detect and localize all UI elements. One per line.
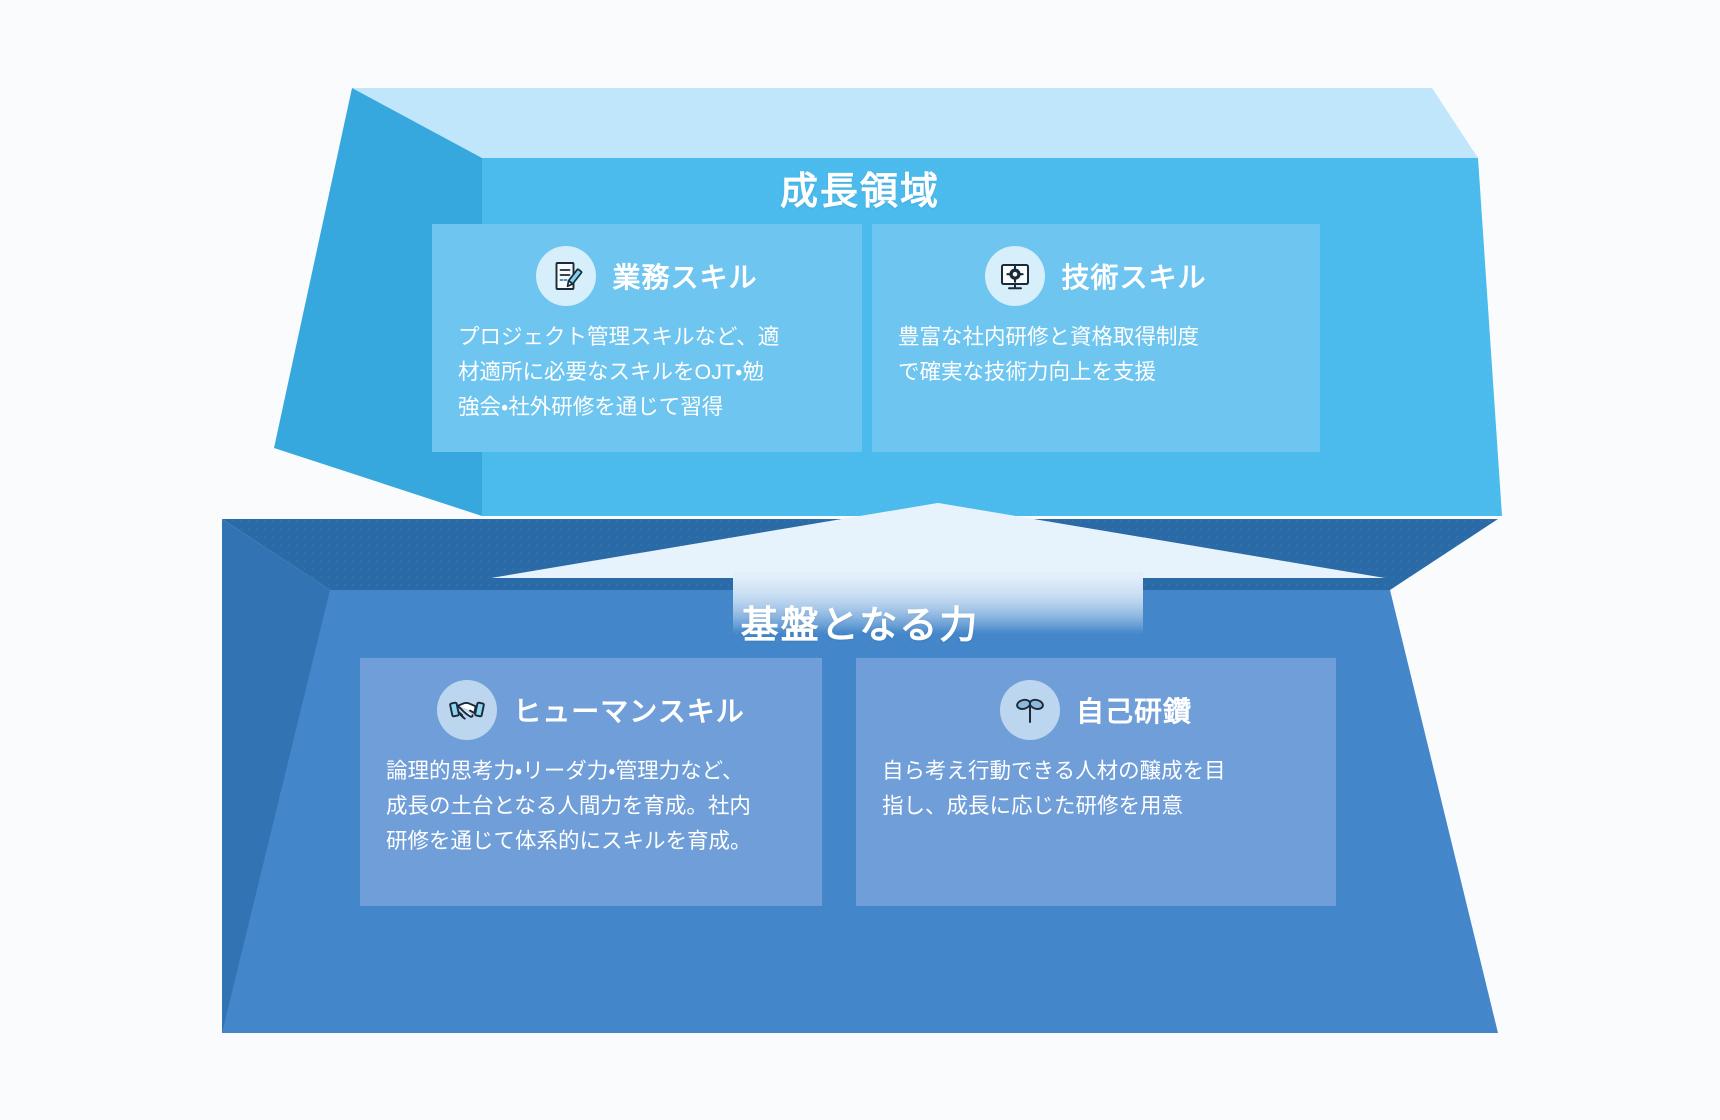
card-self-study[interactable]: 自己研鑽 自ら考え行動できる人材の醸成を目 指し、成長に応じた研修を用意: [856, 658, 1336, 906]
card-description: 豊富な社内研修と資格取得制度 で確実な技術力向上を支援: [898, 320, 1294, 390]
desc-line: 論理的思考力・リーダ力・管理力など、: [386, 754, 796, 789]
desc-line: 強会・社外研修を通じて習得: [458, 390, 836, 425]
card-header: 自己研鑽: [882, 680, 1310, 740]
diagram-canvas: 成長領域 業務スキル プロジェクト管理スキルなど、適 材適所に必要なスキ: [0, 0, 1720, 1120]
desc-line: 研修を通じて体系的にスキルを育成。: [386, 824, 796, 859]
document-pencil-icon: [536, 246, 596, 306]
card-header: 技術スキル: [898, 246, 1294, 306]
card-title: 自己研鑽: [1076, 690, 1192, 730]
desc-line: 指し、成長に応じた研修を用意: [882, 789, 1310, 824]
sprout-icon: [1000, 680, 1060, 740]
handshake-icon: [437, 680, 497, 740]
desc-line: 自ら考え行動できる人材の醸成を目: [882, 754, 1310, 789]
card-gijutsu-skill[interactable]: 技術スキル 豊富な社内研修と資格取得制度 で確実な技術力向上を支援: [872, 224, 1320, 452]
section-title-growth: 成長領域: [0, 160, 1720, 215]
desc-line: プロジェクト管理スキルなど、適: [458, 320, 836, 355]
card-gyomu-skill[interactable]: 業務スキル プロジェクト管理スキルなど、適 材適所に必要なスキルをOJT・勉 強…: [432, 224, 862, 452]
card-title: 技術スキル: [1061, 256, 1206, 296]
desc-line: 成長の土台となる人間力を育成。社内: [386, 789, 796, 824]
card-header: 業務スキル: [458, 246, 836, 306]
growth-top-face: [352, 88, 1478, 158]
card-human-skill[interactable]: ヒューマンスキル 論理的思考力・リーダ力・管理力など、 成長の土台となる人間力を…: [360, 658, 822, 906]
card-description: 自ら考え行動できる人材の醸成を目 指し、成長に応じた研修を用意: [882, 754, 1310, 824]
monitor-gear-icon: [985, 246, 1045, 306]
section-title-foundation: 基盤となる力: [0, 594, 1720, 649]
card-description: プロジェクト管理スキルなど、適 材適所に必要なスキルをOJT・勉 強会・社外研修…: [458, 320, 836, 424]
desc-line: 豊富な社内研修と資格取得制度: [898, 320, 1294, 355]
card-description: 論理的思考力・リーダ力・管理力など、 成長の土台となる人間力を育成。社内 研修を…: [386, 754, 796, 858]
desc-line: 材適所に必要なスキルをOJT・勉: [458, 355, 836, 390]
card-title: 業務スキル: [612, 256, 757, 296]
card-header: ヒューマンスキル: [386, 680, 796, 740]
card-title: ヒューマンスキル: [513, 690, 744, 730]
desc-line: で確実な技術力向上を支援: [898, 355, 1294, 390]
